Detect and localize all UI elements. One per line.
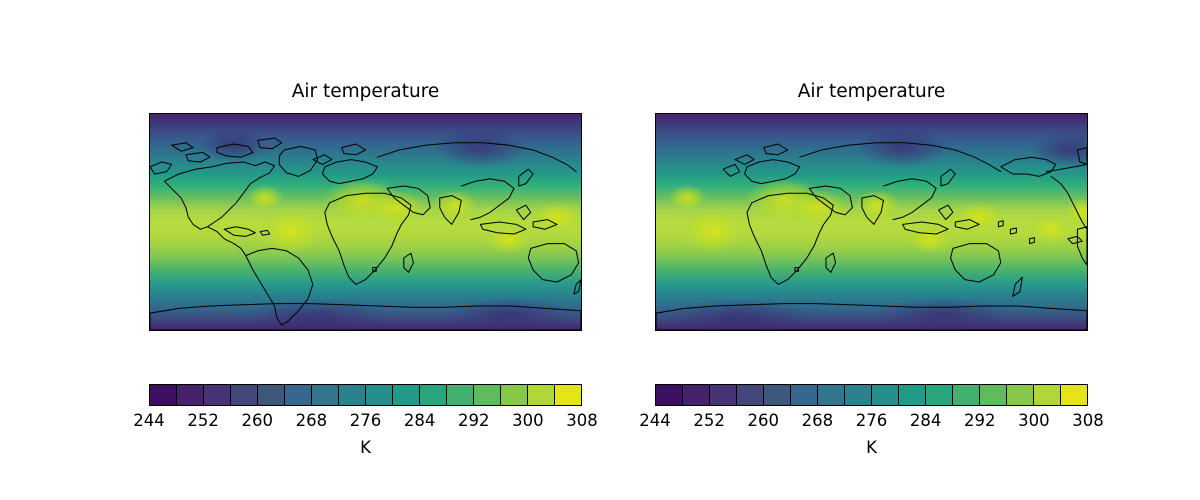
- colorbar-segment: [845, 385, 872, 405]
- colorbar-segment: [872, 385, 899, 405]
- panel-title: Air temperature: [149, 83, 582, 102]
- colorbar-tick-label: 268: [296, 413, 328, 430]
- colorbar-tick-label: 292: [458, 413, 490, 430]
- colorbar-segment: [528, 385, 555, 405]
- colorbar-segment: [737, 385, 764, 405]
- colorbar-segment: [710, 385, 737, 405]
- colorbar[interactable]: 244252260268276284292300308 K: [149, 384, 582, 466]
- colorbar-segment: [339, 385, 366, 405]
- map-field: [150, 114, 581, 330]
- colorbar-segment: [683, 385, 710, 405]
- colorbar-segment: [231, 385, 258, 405]
- colorbar-segment: [980, 385, 1007, 405]
- panel-title: Air temperature: [655, 83, 1088, 102]
- map-svg: [656, 114, 1087, 330]
- right-panel: Air temperature: [655, 83, 1088, 466]
- colorbar-segment: [366, 385, 393, 405]
- left-panel: Air temperature: [149, 83, 582, 466]
- colorbar-tick-label: 244: [133, 413, 165, 430]
- colorbar-tick-label: 268: [802, 413, 834, 430]
- colorbar-segment: [791, 385, 818, 405]
- map-svg: [150, 114, 581, 330]
- colorbar-segment: [764, 385, 791, 405]
- colorbar-segment: [204, 385, 231, 405]
- colorbar-segment: [926, 385, 953, 405]
- colorbar-segment: [177, 385, 204, 405]
- map-field: [656, 114, 1087, 330]
- colorbar-tick-label: 244: [639, 413, 671, 430]
- colorbar-unit-label: K: [655, 440, 1088, 457]
- colorbar-ticklabels: 244252260268276284292300308: [655, 413, 1088, 433]
- map-axes[interactable]: [149, 113, 582, 331]
- colorbar-tick-label: 260: [242, 413, 274, 430]
- colorbar-segment: [899, 385, 926, 405]
- figure-canvas: Air temperature: [0, 0, 1200, 500]
- colorbar-segment: [555, 385, 581, 405]
- colorbar-strip[interactable]: [655, 384, 1088, 406]
- colorbar-segment: [393, 385, 420, 405]
- map-axes[interactable]: [655, 113, 1088, 331]
- colorbar-tick-label: 260: [748, 413, 780, 430]
- colorbar-tick-label: 308: [566, 413, 598, 430]
- colorbar-segment: [1007, 385, 1034, 405]
- colorbar-tick-label: 284: [404, 413, 436, 430]
- colorbar-segment: [1061, 385, 1087, 405]
- colorbar-segment: [285, 385, 312, 405]
- colorbar-tick-label: 308: [1072, 413, 1104, 430]
- colorbar-segment: [501, 385, 528, 405]
- colorbar-segment: [474, 385, 501, 405]
- colorbar-segment: [1034, 385, 1061, 405]
- colorbar-tick-label: 276: [856, 413, 888, 430]
- colorbar-tick-label: 276: [350, 413, 382, 430]
- colorbar-tick-label: 300: [1018, 413, 1050, 430]
- colorbar-segment: [420, 385, 447, 405]
- colorbar-tick-label: 252: [693, 413, 725, 430]
- colorbar-segment: [818, 385, 845, 405]
- colorbar[interactable]: 244252260268276284292300308 K: [655, 384, 1088, 466]
- colorbar-segment: [447, 385, 474, 405]
- colorbar-segment: [258, 385, 285, 405]
- colorbar-tick-label: 252: [187, 413, 219, 430]
- colorbar-tick-label: 300: [512, 413, 544, 430]
- colorbar-segment: [312, 385, 339, 405]
- colorbar-segment: [953, 385, 980, 405]
- colorbar-segment: [150, 385, 177, 405]
- colorbar-tick-label: 292: [964, 413, 996, 430]
- colorbar-segment: [656, 385, 683, 405]
- colorbar-unit-label: K: [149, 440, 582, 457]
- colorbar-strip[interactable]: [149, 384, 582, 406]
- colorbar-ticklabels: 244252260268276284292300308: [149, 413, 582, 433]
- colorbar-tick-label: 284: [910, 413, 942, 430]
